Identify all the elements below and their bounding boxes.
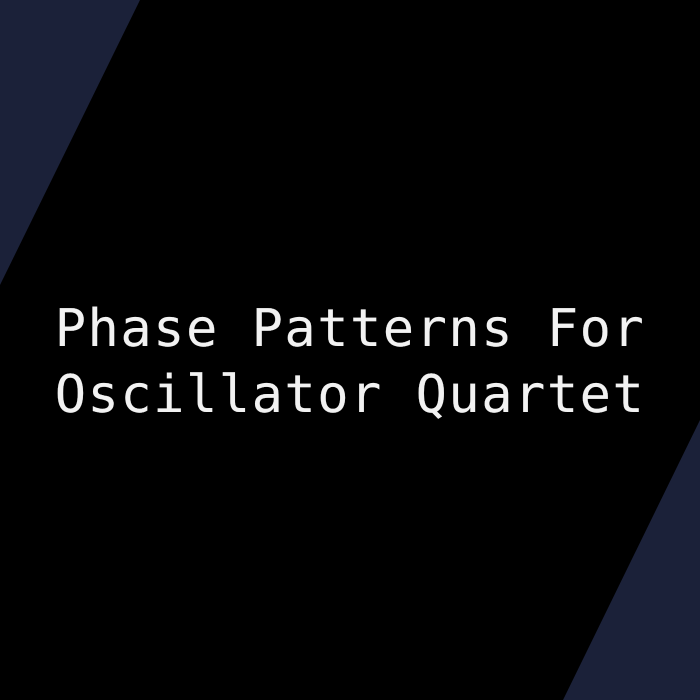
- cover-title: Phase Patterns For Oscillator Quartet: [0, 296, 700, 428]
- top-left-wedge: [0, 0, 140, 285]
- bottom-right-wedge: [563, 420, 700, 700]
- title-line-1: Phase Patterns For: [0, 296, 700, 362]
- title-line-2: Oscillator Quartet: [0, 362, 700, 428]
- album-cover: Phase Patterns For Oscillator Quartet: [0, 0, 700, 700]
